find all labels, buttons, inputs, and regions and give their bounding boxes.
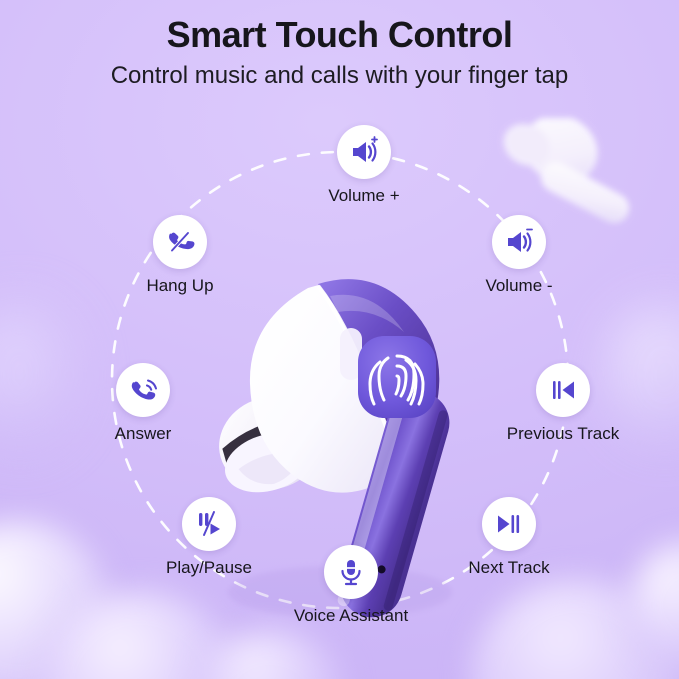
feature-label: Volume + <box>289 186 439 206</box>
previous-track-icon[interactable] <box>536 363 590 417</box>
speaker-plus-icon[interactable] <box>337 125 391 179</box>
play-pause-icon[interactable] <box>182 497 236 551</box>
feature-label: Previous Track <box>488 424 638 444</box>
page-title: Smart Touch Control <box>0 14 679 56</box>
feature-voice-assistant[interactable]: Voice Assistant <box>276 545 426 626</box>
feature-answer[interactable]: Answer <box>68 363 218 444</box>
feature-volume-down[interactable]: Volume - <box>444 215 594 296</box>
feature-next-track[interactable]: Next Track <box>434 497 584 578</box>
phone-hangup-icon[interactable] <box>153 215 207 269</box>
feature-label: Next Track <box>434 558 584 578</box>
phone-answer-icon[interactable] <box>116 363 170 417</box>
feature-label: Volume - <box>444 276 594 296</box>
feature-previous-track[interactable]: Previous Track <box>488 363 638 444</box>
feature-label: Answer <box>68 424 218 444</box>
speaker-minus-icon[interactable] <box>492 215 546 269</box>
feature-play-pause[interactable]: Play/Pause <box>134 497 284 578</box>
feature-label: Play/Pause <box>134 558 284 578</box>
smart-touch-control-infographic: Smart Touch Control Control music and ca… <box>0 0 679 679</box>
page-subtitle: Control music and calls with your finger… <box>0 62 679 90</box>
feature-volume-up[interactable]: Volume + <box>289 125 439 206</box>
feature-label: Voice Assistant <box>276 606 426 626</box>
feature-hang-up[interactable]: Hang Up <box>105 215 255 296</box>
next-track-icon[interactable] <box>482 497 536 551</box>
microphone-icon[interactable] <box>324 545 378 599</box>
feature-label: Hang Up <box>105 276 255 296</box>
